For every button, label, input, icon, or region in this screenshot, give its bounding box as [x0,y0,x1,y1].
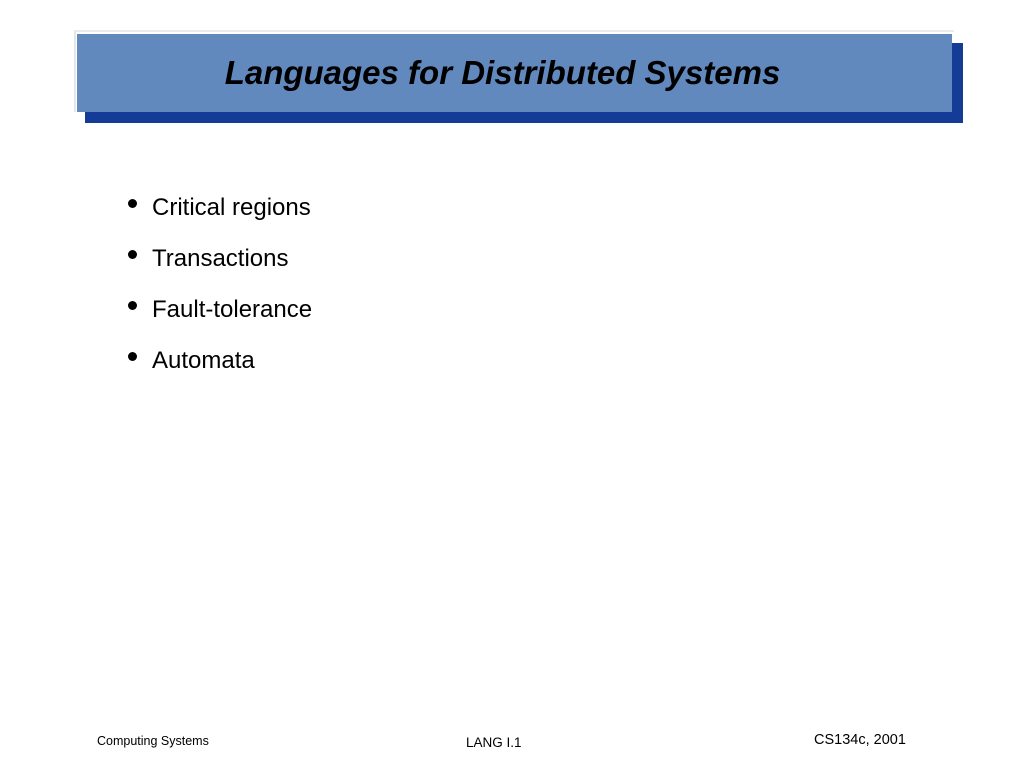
bullet-dot-icon [128,301,137,310]
slide-canvas: Languages for Distributed Systems Critic… [0,0,1024,768]
bullet-item-label: Critical regions [152,193,311,223]
list-item: Transactions [124,244,824,295]
bullet-dot-icon [128,250,137,259]
bullet-item-label: Fault-tolerance [152,295,312,325]
title-banner: Languages for Distributed Systems [77,34,952,112]
bullet-list: Critical regions Transactions Fault-tole… [124,193,824,397]
footer-slide-id: LANG I.1 [466,735,522,750]
footer-course-name: Computing Systems [97,734,209,748]
list-item: Fault-tolerance [124,295,824,346]
bullet-dot-icon [128,199,137,208]
title-banner-face: Languages for Distributed Systems [77,34,952,112]
slide-title: Languages for Distributed Systems [225,54,781,92]
bullet-dot-icon [128,352,137,361]
list-item: Automata [124,346,824,397]
bullet-item-label: Transactions [152,244,289,274]
bullet-item-label: Automata [152,346,255,376]
list-item: Critical regions [124,193,824,244]
footer-course-code: CS134c, 2001 [814,732,906,748]
